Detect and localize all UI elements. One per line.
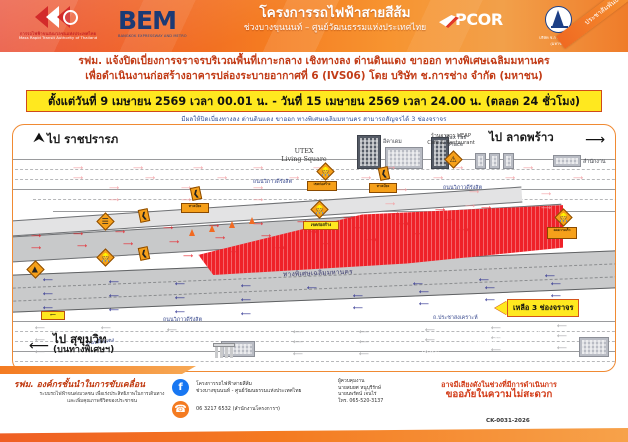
apology-block: อาจมีเสียงดังในช่วงที่มีการดำเนินการ ขออ…: [424, 380, 574, 402]
footer-slogan-block: รฟม. องค์กรชั้นนำในการขับเคลื่อน ระบบรถไ…: [14, 380, 190, 405]
date-banner-text: ตั้งแต่วันที่ 9 เมษายน 2569 เวลา 00.01 น…: [48, 92, 580, 110]
construction-sign-1: เขตก่อสร้าง: [307, 181, 337, 191]
pcor-wordmark: PCOR: [455, 12, 523, 28]
project-title-block: โครงการรถไฟฟ้าสายสีส้ม ช่วงบางขุนนนท์ – …: [215, 6, 455, 33]
document-code: CK-0031-2026: [486, 418, 530, 424]
bem-subtext: BANGKOK EXPRESSWAY AND METRO: [118, 34, 204, 38]
footer-phone-line: 06 3217 6532 (สำนักงานโครงการฯ): [196, 405, 356, 413]
direction-arrow-up-icon: ⮝: [33, 131, 45, 145]
landmark-office-label: อีคาเดม: [383, 139, 402, 146]
traffic-cone-1: [189, 229, 195, 236]
notice-block: รฟม. แจ้งปิดเบี่ยงการจราจรบริเวณพื้นที่เ…: [0, 54, 628, 84]
facebook-icon[interactable]: f: [172, 379, 189, 396]
building-block-2: [475, 153, 486, 169]
road-label-din-daeng: ถ.ประชาสงเคราะห์: [433, 315, 478, 322]
landmark-building-note: สำนักงาน: [583, 159, 606, 166]
footer-social-icons: f ☎: [172, 379, 192, 418]
slow-down-sign: ลดความเร็ว: [547, 227, 577, 239]
pcor-logo: PCOR: [455, 12, 523, 38]
notice-line-1: รฟม. แจ้งปิดเบี่ยงการจราจรบริเวณพื้นที่เ…: [0, 54, 628, 69]
road-label-vibhavadi-3: ถนนวิภาวดีรังสิต: [163, 317, 202, 324]
traffic-cone-4: [249, 217, 255, 224]
construction-zone-label: พื้นที่ก่อสร้าง (บริเวณเกาะกลางใต้ทางพิเ…: [395, 316, 565, 361]
building-block-5: [553, 155, 581, 167]
header-banner: การรถไฟฟ้าขนส่งมวลชนแห่งประเทศไทย Mass R…: [0, 0, 628, 52]
project-title: โครงการรถไฟฟ้าสายสีส้ม: [215, 6, 455, 22]
building-block-7: [579, 337, 609, 357]
notice-line-2: เพื่อดำเนินงานก่อสร้างอาคารปล่องระบายอาก…: [0, 69, 628, 84]
building-block-4: [503, 153, 514, 169]
supervisor-phone: โทร. 065-520-3137: [338, 399, 432, 406]
bem-wordmark: BEM: [118, 8, 204, 33]
map-canvas: พื้นที่ก่อสร้าง (บริเวณเกาะกลางใต้ทางพิเ…: [13, 125, 615, 371]
traffic-map-panel: พื้นที่ก่อสร้าง (บริเวณเกาะกลางใต้ทางพิเ…: [12, 124, 616, 372]
phone-icon[interactable]: ☎: [172, 401, 189, 418]
mrta-logo: การรถไฟฟ้าขนส่งมวลชนแห่งประเทศไทย Mass R…: [14, 5, 102, 47]
landmark-temple-icon: [213, 343, 235, 359]
traffic-cone-2: [209, 225, 215, 232]
notice-subnote: มีผลให้ปิดเบี่ยงทางลง ด่านดินแดง ขาออก ท…: [0, 114, 628, 124]
mrta-chevron-icon: [33, 5, 83, 29]
date-banner: ตั้งแต่วันที่ 9 เมษายน 2569 เวลา 00.01 น…: [26, 90, 602, 112]
callout-pointer-icon: [495, 301, 507, 315]
bem-logo: BEM BANGKOK EXPRESSWAY AND METRO: [118, 8, 204, 42]
building-block-3: [489, 153, 500, 169]
direction-label-top-right: ไป ลาดพร้าว: [489, 131, 554, 144]
landmark-fairplace-label: Max FairPlace: [441, 135, 471, 149]
apology-line-1: อาจมีเสียงดังในช่วงที่มีการดำเนินการ: [424, 380, 574, 389]
direction-arrow-right-icon: ⟶: [585, 133, 605, 147]
mrta-logo-en: Mass Rapid Transit Authority of Thailand: [14, 36, 102, 41]
direction-label-bottom-left-sub: (บนทางพิเศษฯ): [53, 346, 114, 356]
footer-fb-line-2: ช่วงบางขุนนนท์ - ศูนย์วัฒนธรรมแห่งประเทศ…: [196, 388, 356, 395]
project-subtitle: ช่วงบางขุนนนท์ – ศูนย์วัฒนธรรมแห่งประเทศ…: [215, 23, 455, 33]
lane-callout: เหลือ 3 ช่องจราจร: [507, 299, 579, 317]
construction-sign-2: เขตก่อสร้าง: [303, 221, 339, 230]
traffic-cone-3: [229, 221, 235, 228]
apology-line-2: ขออภัยในความไม่สะดวก: [424, 389, 574, 402]
direction-label-top-left: ไป ราชปรารภ: [47, 133, 118, 146]
supervisor-title: ผู้ควบคุมงาน: [338, 379, 432, 386]
landmark-utex-label: UTEXLiving Square: [261, 147, 347, 163]
detour-sign-1: ทางเบี่ยง: [369, 183, 397, 193]
footer-slogan-sub: ระบบรถไฟฟ้าขนส่งมวลชน เพื่อเร่งประสิทธิภ…: [14, 392, 190, 405]
footer-supervisor-block: ผู้ควบคุมงาน นายสมยศ หนูบุรีรักษ์ นายนพร…: [338, 379, 432, 406]
building-tower-1: [357, 135, 381, 169]
poster-root: การรถไฟฟ้าขนส่งมวลชนแห่งประเทศไทย Mass R…: [0, 0, 628, 442]
footer-slogan-main: รฟม. องค์กรชั้นนำในการขับเคลื่อน: [14, 380, 190, 390]
detour-sign-2: ทางเบี่ยง: [181, 203, 209, 213]
direction-label-bottom-left-main: ไป สุขุมวิท: [53, 332, 107, 346]
footer-contact-block: โครงการรถไฟฟ้าสายสีส้ม ช่วงบางขุนนนท์ - …: [196, 381, 356, 413]
direction-sign-left: ⟵: [41, 311, 65, 320]
